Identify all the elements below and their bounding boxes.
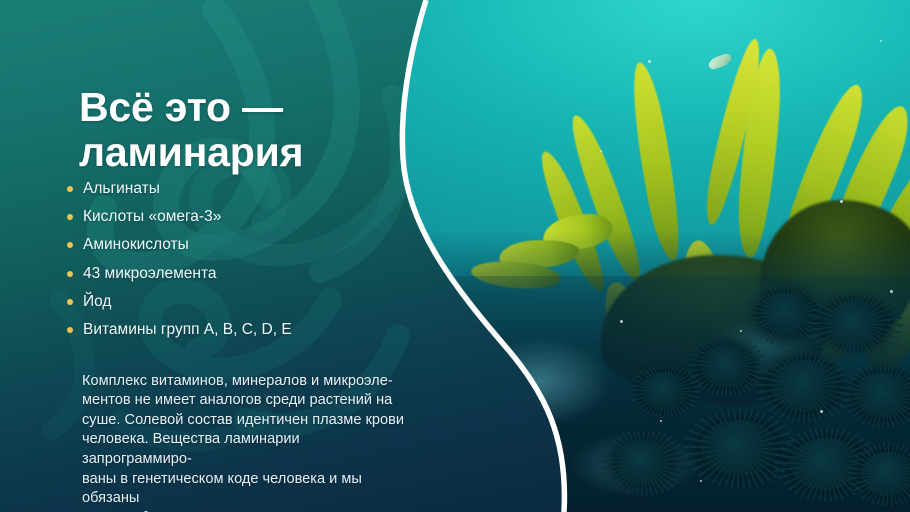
bullet-dot-icon (67, 242, 73, 248)
bullet-dot-icon (67, 327, 73, 333)
bullet-dot-icon (67, 214, 73, 220)
bullet-dot-icon (67, 271, 73, 277)
list-item-label: Витамины групп A, B, C, D, E (83, 321, 292, 338)
description-paragraph: Комплекс витаминов, минералов и микроэле… (82, 372, 412, 512)
list-item: Аминокислоты (67, 231, 397, 259)
slide-content: Всё это — ламинария Альгинаты Кислоты «о… (0, 0, 910, 512)
list-item: Кислоты «омега-3» (67, 203, 397, 231)
list-item: Альгинаты (67, 175, 397, 203)
list-item-label: Альгинаты (83, 180, 160, 197)
bullet-dot-icon (67, 299, 73, 305)
slide-root: Всё это — ламинария Альгинаты Кислоты «о… (0, 0, 910, 512)
list-item-label: 43 микроэлемента (83, 265, 217, 282)
list-item: 43 микроэлемента (67, 260, 397, 288)
list-item: Йод (67, 288, 397, 316)
list-item-label: Аминокислоты (83, 236, 189, 253)
list-item: Витамины групп A, B, C, D, E (67, 316, 397, 344)
page-title: Всё это — ламинария (79, 85, 409, 175)
bullet-dot-icon (67, 186, 73, 192)
list-item-label: Йод (83, 293, 111, 310)
list-item-label: Кислоты «омега-3» (83, 208, 221, 225)
benefits-list: Альгинаты Кислоты «омега-3» Аминокислоты… (67, 175, 397, 344)
